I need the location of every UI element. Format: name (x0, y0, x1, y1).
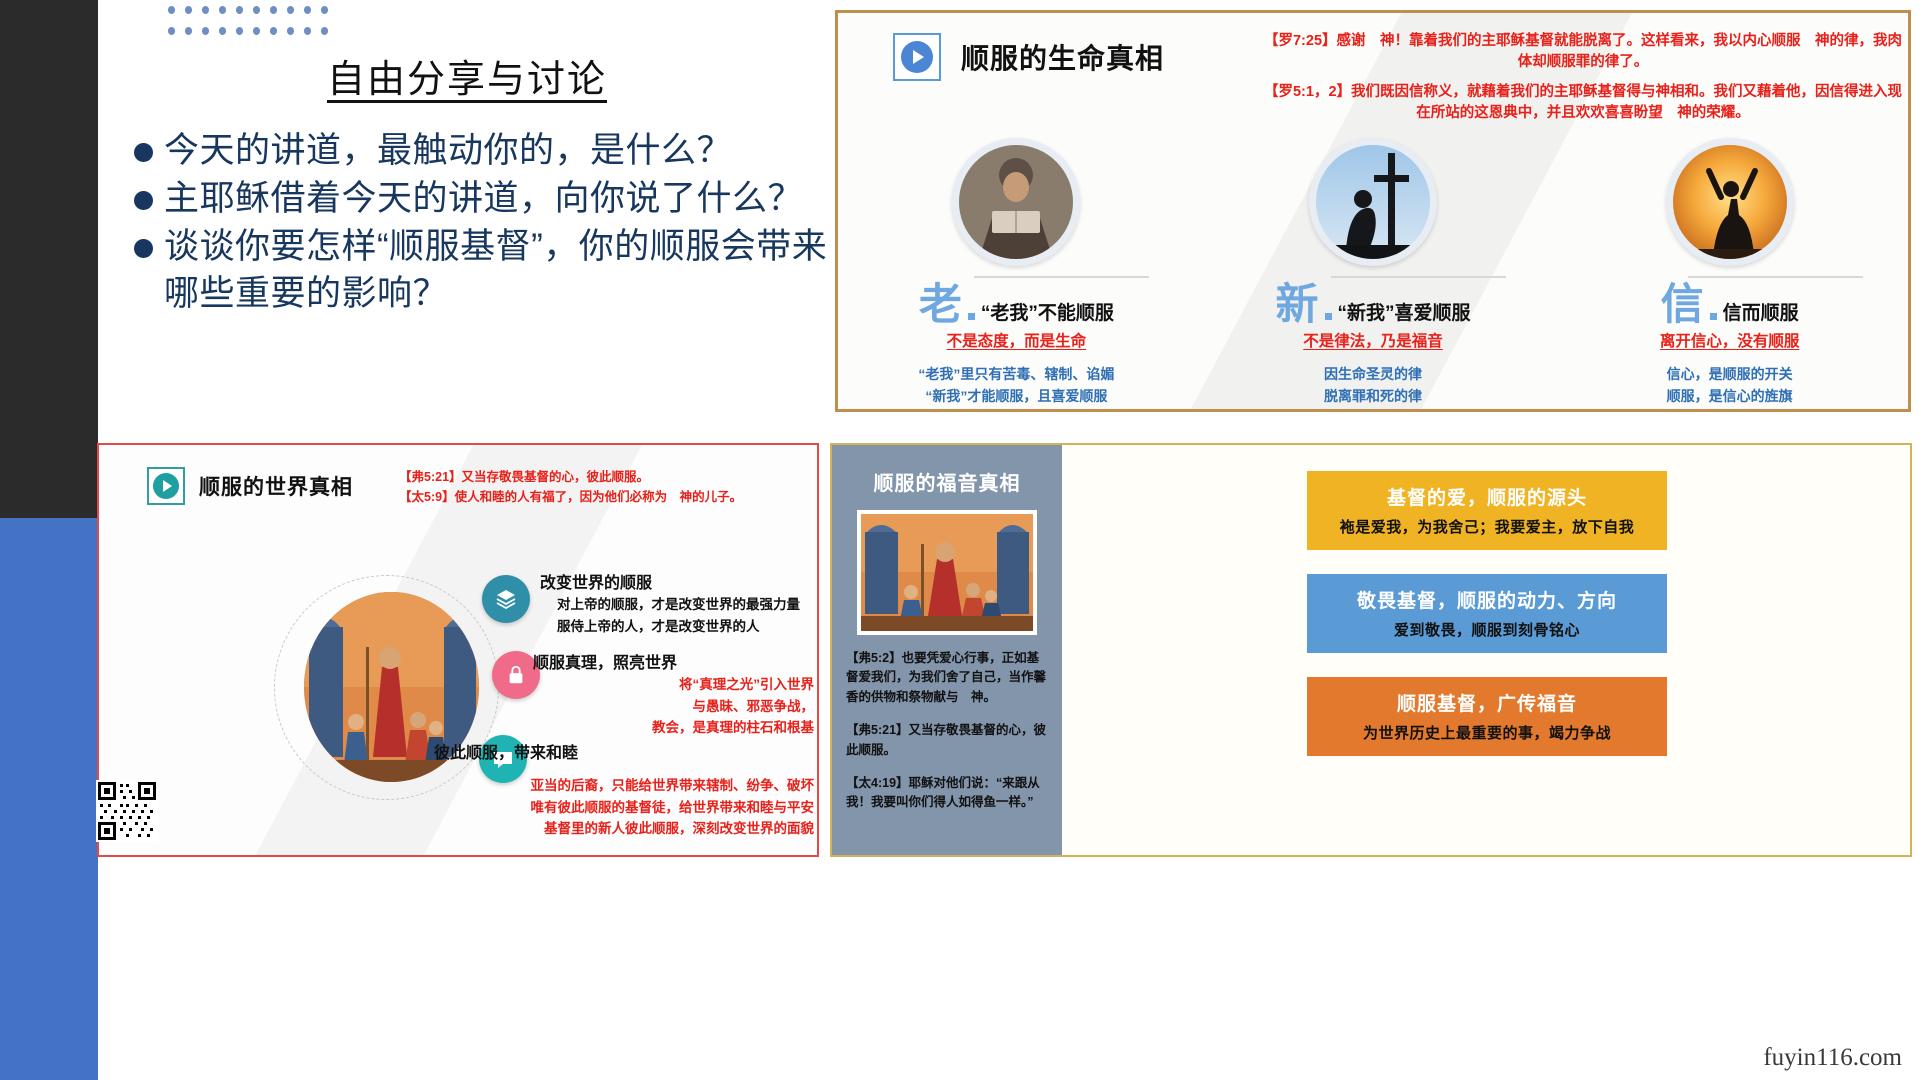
list-item: 主耶稣借着今天的讲道，向你说了什么？ (134, 176, 834, 222)
panel-gospel-truth: 顺服的福音真相 【弗5:2】也要凭爱心行事，正如基督爱我 (830, 443, 1912, 857)
dot (219, 27, 226, 35)
blue-line: 信心，是顺服的开关 (1551, 363, 1908, 385)
decorative-dots (168, 6, 328, 48)
dot (321, 27, 328, 35)
section-title: 改变世界的顺服 (540, 569, 652, 593)
panel3-cards: 基督的爱，顺服的源头 袘是爱我，为我舍己；我要爱主，放下自我 敬畏基督，顺服的动… (1087, 471, 1887, 780)
panel2-title: 顺服的世界真相 (199, 471, 353, 501)
blue-line: “老我”里只有苦毒、辖制、谄媚 (838, 363, 1195, 385)
man-reading-bible-photo (952, 138, 1080, 266)
blue-line: 因生命圣灵的律 (1195, 363, 1552, 385)
site-watermark: fuyin116.com (1763, 1044, 1902, 1072)
dot-row (168, 27, 328, 35)
gospel-card-fear: 敬畏基督，顺服的动力、方向 爱到敬畏，顺服到刻骨铭心 (1307, 574, 1667, 653)
square-dot-icon (1710, 313, 1717, 320)
scripture-text: 【罗5:1，2】我们既因信称义，就藉着我们的主耶稣基督得与神相和。我们又藉着他，… (1263, 82, 1903, 124)
gospel-card-obey: 顺服基督，广传福音 为世界历史上最重要的事，竭力争战 (1307, 677, 1667, 756)
square-dot-icon (968, 313, 975, 320)
question-text: 谈谈你要怎样“顺服基督”，你的顺服会带来哪些重要的影响？ (164, 224, 834, 316)
blue-caption: 因生命圣灵的律 脱离罪和死的律 (1195, 363, 1552, 408)
question-text: 主耶稣借着今天的讲道，向你说了什么？ (164, 176, 803, 222)
play-triangle (163, 480, 172, 492)
left-dark-bar (0, 0, 98, 518)
layers-icon (482, 575, 530, 623)
dot (236, 27, 243, 35)
divider (1688, 276, 1863, 278)
dot (168, 6, 175, 14)
card-subtitle: 袘是爱我，为我舍己；我要爱主，放下自我 (1317, 516, 1657, 537)
bullet-icon (134, 143, 153, 162)
dot (287, 27, 294, 35)
body-line: 与愚昧、邪恶争战， (574, 696, 814, 718)
moses-leading-people-photo (857, 510, 1037, 635)
scripture-text: 【太4:19】耶稣对他们说：“来跟从我！我要叫你们得人如得鱼一样。” (846, 774, 1048, 813)
scripture-text: 【弗5:2】也要凭爱心行事，正如基督爱我们，为我们舍了自己，当作馨香的供物和祭物… (846, 649, 1048, 707)
left-blue-bar (0, 518, 98, 1080)
divider (974, 276, 1149, 278)
panel1-header: 顺服的生命真相 (893, 33, 1164, 81)
red-caption: 离开信心，没有顺服 (1551, 329, 1908, 351)
body-line: 基督里的新人彼此顺服，深刻改变世界的面貌 (444, 818, 814, 840)
panel3-left-column: 顺服的福音真相 【弗5:2】也要凭爱心行事，正如基督爱我 (832, 445, 1062, 855)
dot (287, 6, 294, 14)
dot (236, 6, 243, 14)
qr-code (96, 780, 158, 847)
dot (270, 27, 277, 35)
section-body: 将“真理之光”引入世界 与愚昧、邪恶争战， 教会，是真理的柱石和根基 (574, 674, 814, 739)
panel1-column (1551, 138, 1908, 266)
section-body: 对上帝的顺服，才是改变世界的最强力量 服侍上帝的人，才是改变世界的人 (557, 594, 800, 637)
list-item: 今天的讲道，最触动你的，是什么？ (134, 128, 834, 174)
bullet-icon (134, 191, 153, 210)
body-line: 将“真理之光”引入世界 (574, 674, 814, 696)
headline-text: “新我”喜爱顺服 (1338, 304, 1471, 323)
blue-caption: 信心，是顺服的开关 顺服，是信心的旌旗 (1551, 363, 1908, 408)
panel1-column (838, 138, 1195, 266)
red-caption: 不是律法，乃是福音 (1195, 329, 1552, 351)
headline-text: 信而顺服 (1723, 304, 1799, 323)
dot (219, 6, 226, 14)
panel1-photo-row (838, 138, 1908, 266)
play-circle (901, 41, 933, 73)
body-line: 亚当的后裔，只能给世界带来辖制、纷争、破坏 (444, 775, 814, 797)
blue-line: “新我”才能顺服，且喜爱顺服 (838, 385, 1195, 407)
panel1-title: 顺服的生命真相 (961, 37, 1164, 77)
dot (304, 27, 311, 35)
dot (185, 6, 192, 14)
body-line: 对上帝的顺服，才是改变世界的最强力量 (557, 594, 800, 616)
dot-row (168, 6, 328, 14)
scripture-text: 【弗5:21】又当存敬畏基督的心，彼此顺服。 (399, 467, 814, 487)
dot (304, 6, 311, 14)
panel1-label-group: 新 “新我”喜爱顺服 (1195, 285, 1552, 326)
scripture-text: 【罗7:25】感谢 神！靠着我们的主耶稣基督就能脱离了。这样看来，我以内心顺服 … (1263, 31, 1903, 73)
card-subtitle: 为世界历史上最重要的事，竭力争战 (1317, 722, 1657, 743)
card-title: 基督的爱，顺服的源头 (1317, 483, 1657, 510)
dot (202, 27, 209, 35)
big-char: 老 (919, 285, 962, 326)
scripture-text: 【弗5:21】又当存敬畏基督的心，彼此顺服。 (846, 721, 1048, 760)
bullet-icon (134, 239, 153, 258)
big-char: 新 (1276, 285, 1319, 326)
blue-line: 顺服，是信心的旌旗 (1551, 385, 1908, 407)
panel2-header: 顺服的世界真相 (147, 467, 353, 505)
list-item: 谈谈你要怎样“顺服基督”，你的顺服会带来哪些重要的影响？ (134, 224, 834, 316)
panel1-label-group: 信 信而顺服 (1551, 285, 1908, 326)
panel2-scriptures: 【弗5:21】又当存敬畏基督的心，彼此顺服。 【太5:9】使人和睦的人有福了，因… (399, 467, 814, 507)
play-icon[interactable] (893, 33, 941, 81)
panel1-label-row: 老 “老我”不能顺服 新 “新我”喜爱顺服 信 信而顺服 (838, 285, 1908, 326)
dot (185, 27, 192, 35)
dot (270, 6, 277, 14)
dot (253, 27, 260, 35)
panel1-scriptures: 【罗7:25】感谢 神！靠着我们的主耶稣基督就能脱离了。这样看来，我以内心顺服 … (1263, 31, 1903, 133)
play-icon[interactable] (147, 467, 185, 505)
body-line: 服侍上帝的人，才是改变世界的人 (557, 616, 800, 638)
red-caption: 不是态度，而是生命 (838, 329, 1195, 351)
panel1-blue-row: “老我”里只有苦毒、辖制、谄媚 “新我”才能顺服，且喜爱顺服 因生命圣灵的律 脱… (838, 363, 1908, 408)
play-triangle (913, 50, 924, 64)
raised-hands-sunset-photo (1666, 138, 1794, 266)
question-text: 今天的讲道，最触动你的，是什么？ (164, 128, 732, 174)
dot (168, 27, 175, 35)
section-title: 顺服真理，照亮世界 (533, 649, 677, 673)
dot (253, 6, 260, 14)
card-subtitle: 爱到敬畏，顺服到刻骨铭心 (1317, 619, 1657, 640)
panel3-title: 顺服的福音真相 (846, 467, 1048, 496)
blue-line: 脱离罪和死的律 (1195, 385, 1552, 407)
section-body: 亚当的后裔，只能给世界带来辖制、纷争、破坏 唯有彼此顺服的基督徒，给世界带来和睦… (444, 775, 814, 840)
page-title: 自由分享与讨论 (112, 48, 822, 103)
square-dot-icon (1325, 313, 1332, 320)
panel-world-truth: 顺服的世界真相 【弗5:21】又当存敬畏基督的心，彼此顺服。 【太5:9】使人和… (97, 443, 819, 857)
card-title: 敬畏基督，顺服的动力、方向 (1317, 586, 1657, 613)
panel-life-truth: 顺服的生命真相 【罗7:25】感谢 神！靠着我们的主耶稣基督就能脱离了。这样看来… (835, 10, 1911, 412)
body-line: 教会，是真理的柱石和根基 (574, 717, 814, 739)
divider (1331, 276, 1506, 278)
play-circle (153, 473, 179, 499)
card-title: 顺服基督，广传福音 (1317, 689, 1657, 716)
kneeling-at-cross-photo (1309, 138, 1437, 266)
section-title: 彼此顺服，带来和睦 (434, 739, 578, 763)
body-line: 唯有彼此顺服的基督徒，给世界带来和睦与平安 (444, 797, 814, 819)
big-char: 信 (1661, 285, 1704, 326)
question-list: 今天的讲道，最触动你的，是什么？ 主耶稣借着今天的讲道，向你说了什么？ 谈谈你要… (134, 128, 834, 319)
panel1-label-group: 老 “老我”不能顺服 (838, 285, 1195, 326)
scripture-text: 【太5:9】使人和睦的人有福了，因为他们必称为 神的儿子。 (399, 487, 814, 507)
blue-caption: “老我”里只有苦毒、辖制、谄媚 “新我”才能顺服，且喜爱顺服 (838, 363, 1195, 408)
dot (321, 6, 328, 14)
dot (202, 6, 209, 14)
gospel-card-love: 基督的爱，顺服的源头 袘是爱我，为我舍己；我要爱主，放下自我 (1307, 471, 1667, 550)
panel1-red-row: 不是态度，而是生命 不是律法，乃是福音 离开信心，没有顺服 (838, 329, 1908, 351)
panel1-column (1195, 138, 1552, 266)
headline-text: “老我”不能顺服 (981, 304, 1114, 323)
